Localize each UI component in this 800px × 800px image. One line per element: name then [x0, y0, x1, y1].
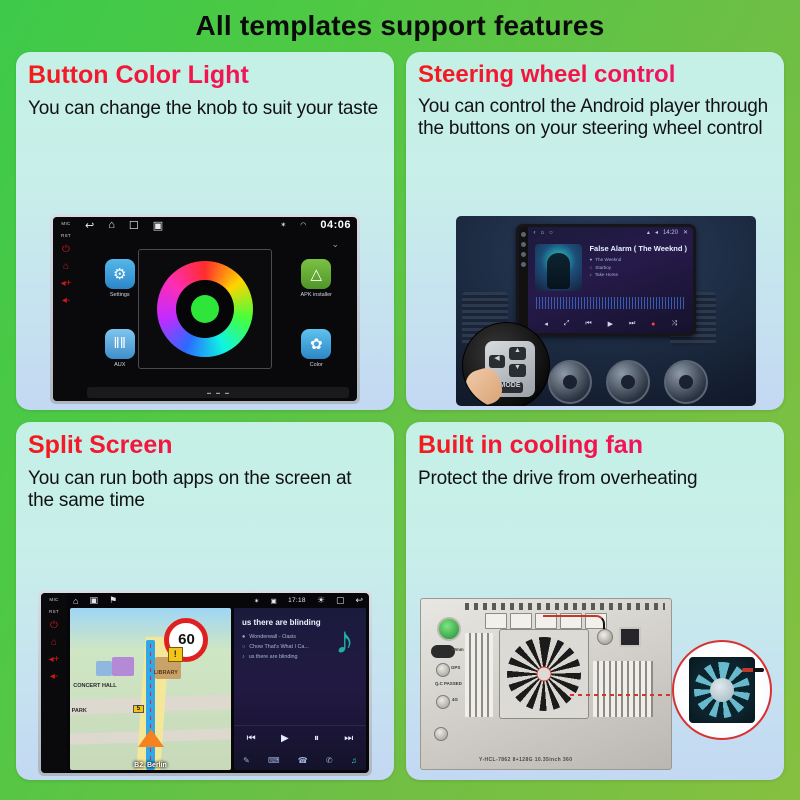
- card-description: You can control the Android player throu…: [418, 96, 772, 140]
- card-description: Protect the drive from overheating: [418, 468, 772, 490]
- clock: 14:20: [663, 230, 678, 236]
- app-shortcut-bar: ✎ ⌨ ☎ ✆ ♫: [234, 750, 366, 770]
- meta-text: Wonderwall - Oasis: [249, 634, 296, 640]
- app-label: Settings: [110, 292, 130, 298]
- mic-label: MIC: [49, 597, 58, 602]
- album-icon: ○: [242, 644, 245, 650]
- recents-icon[interactable]: ○: [549, 230, 553, 236]
- feature-card-grid: Button Color Light You can change the kn…: [16, 52, 784, 788]
- usb-port: [619, 627, 641, 647]
- source-name: Take Home: [595, 272, 618, 277]
- callout-connector-line: [570, 694, 676, 696]
- port-label: 30mm: [451, 647, 464, 652]
- reset-label: RST: [49, 609, 59, 614]
- waveform-progress[interactable]: [536, 297, 685, 309]
- feature-card-steering-wheel-control: Steering wheel control You can control t…: [406, 52, 784, 410]
- wifi-icon: ◠: [300, 221, 306, 229]
- now-playing: False Alarm ( The Weeknd ) ●The Weeknd ○…: [528, 238, 693, 291]
- phone-icon[interactable]: ✆: [326, 756, 333, 765]
- app-color[interactable]: ✿ Color: [284, 313, 350, 383]
- recents-icon[interactable]: ☐: [129, 219, 139, 232]
- player-controls: ◂ ⤢ ⏮ ▶ ⏭ ● ⤨: [528, 317, 693, 331]
- aux-port: [434, 727, 448, 741]
- connector: [485, 613, 507, 629]
- heatsink-fins-right: [593, 661, 653, 717]
- map-building: [112, 657, 135, 676]
- gps-port: [436, 695, 450, 709]
- back-icon[interactable]: ↩: [85, 219, 94, 232]
- next-button[interactable]: ⏭: [344, 733, 353, 744]
- card-title: Split Screen: [28, 432, 382, 460]
- split-screen-display: MIC RST ⏻ ⌂ ◂+ ◂- ⌂ ▣ ⚑ ✶ ▣ 17:18: [41, 593, 369, 773]
- port-label: GPS: [451, 665, 460, 670]
- settings-icon: ⚙: [105, 259, 135, 289]
- climate-control-knobs: [548, 360, 708, 404]
- map-building: [96, 661, 112, 676]
- reset-label: RST: [61, 233, 71, 238]
- close-icon[interactable]: ✕: [683, 229, 688, 236]
- rail-button[interactable]: [521, 262, 526, 267]
- back-icon[interactable]: ↩: [355, 595, 363, 606]
- sd-card-icon: ▣: [271, 597, 277, 605]
- brightness-icon[interactable]: ☀: [317, 595, 325, 606]
- fan-power-wire: [543, 615, 605, 629]
- steering-wheel-closeup: ▲ ▼ ◀ MODE: [462, 322, 550, 406]
- source-icon: ♪: [589, 272, 591, 277]
- expand-button[interactable]: ⤢: [564, 320, 570, 328]
- rail-button[interactable]: [521, 242, 526, 247]
- cooling-fan-photo: [689, 657, 755, 723]
- previous-button[interactable]: ⏮: [585, 320, 591, 328]
- track-info: False Alarm ( The Weeknd ) ●The Weeknd ○…: [589, 244, 687, 291]
- volume-down-icon[interactable]: ◂-: [62, 296, 70, 306]
- map-poi-label: LIBRARY: [154, 670, 178, 676]
- bluetooth-icon: ✶: [280, 221, 286, 229]
- status-bar: ↩ ⌂ ☐ ▣ ✶ ◠ 04:06: [79, 217, 357, 233]
- card-title: Steering wheel control: [418, 62, 772, 88]
- shuffle-button[interactable]: ⤨: [671, 320, 677, 328]
- app-label: AUX: [114, 362, 125, 368]
- power-icon[interactable]: ⏻: [62, 245, 70, 255]
- android-icon: △: [301, 259, 331, 289]
- dot: ▬: [225, 390, 229, 395]
- pause-button[interactable]: ⏸: [314, 733, 319, 744]
- edit-icon[interactable]: ✎: [243, 756, 250, 765]
- page-title: All templates support features: [0, 4, 800, 48]
- track-title: False Alarm ( The Weeknd ): [589, 244, 687, 253]
- fan-hub-marker: [537, 667, 552, 682]
- head-unit-device: MIC RST ⏻ ⌂ ◂+ ◂- ↩ ⌂ ☐ ▣ ✶ ◠: [50, 214, 360, 404]
- head-unit-rear-panel: 30mm GPS Q.C PASSED 4G Y-HCL-7862 8+128G…: [420, 598, 672, 770]
- keyboard-icon[interactable]: ⌨: [268, 756, 280, 765]
- album-row: ○Starboy: [589, 265, 687, 270]
- feature-card-button-color-light: Button Color Light You can change the kn…: [16, 52, 394, 410]
- dashboard-head-unit: ‹ ⌂ ○ ▴ ◂ 14:20 ✕ False Alar: [516, 224, 696, 336]
- aux-icon: ‖‖: [105, 329, 135, 359]
- fan-grille: [499, 629, 589, 719]
- home-icon[interactable]: ⌂: [73, 596, 78, 606]
- home-icon[interactable]: ⌂: [51, 638, 57, 648]
- music-player-pane[interactable]: ♪ us there are blinding ●Wonderwall - Oa…: [234, 608, 366, 770]
- color-wheel[interactable]: [157, 261, 253, 357]
- play-button[interactable]: ▶: [281, 733, 289, 744]
- port-label: 4G: [452, 697, 458, 702]
- play-button[interactable]: ▶: [608, 320, 613, 328]
- head-unit-screen: MIC RST ⏻ ⌂ ◂+ ◂- ↩ ⌂ ☐ ▣ ✶ ◠: [53, 217, 357, 401]
- next-button[interactable]: ⏭: [629, 320, 635, 328]
- artist-icon: ●: [242, 634, 245, 640]
- fan-wire-lead: [742, 668, 764, 672]
- screen-side-rail: [519, 227, 528, 333]
- dashboard-screen: ‹ ⌂ ○ ▴ ◂ 14:20 ✕ False Alar: [519, 227, 693, 333]
- rail-button[interactable]: [521, 232, 526, 237]
- qc-passed-label: Q.C PASSED: [435, 681, 462, 686]
- dot: ▬: [207, 390, 211, 395]
- album-art: [535, 244, 582, 291]
- artist-row: ●The Weeknd: [589, 257, 687, 262]
- swc-up-button[interactable]: ▲: [509, 347, 526, 360]
- signal-icon: ▴: [647, 229, 650, 236]
- card-description: You can run both apps on the screen at t…: [28, 468, 382, 512]
- map-position-arrow: [138, 729, 164, 747]
- color-wheel-inner: [176, 280, 234, 338]
- head-unit-side-rail: MIC RST ⏻ ⌂ ◂+ ◂-: [41, 593, 67, 773]
- page-indicator: ▬ ▬ ▬: [87, 387, 349, 398]
- heatsink-fins-left: [465, 633, 493, 717]
- record-button[interactable]: ●: [651, 321, 655, 328]
- climate-knob[interactable]: [664, 360, 708, 404]
- track-meta: ●The Weeknd ○Starboy ♪Take Home: [589, 257, 687, 277]
- color-picker-dialog[interactable]: [138, 249, 272, 369]
- map-poi-label: PARK: [72, 708, 87, 714]
- volume-up-icon[interactable]: ◂+: [49, 655, 60, 665]
- meta-text: Chow That's What I Ca...: [249, 644, 309, 650]
- card-title: Built in cooling fan: [418, 432, 772, 460]
- color-icon: ✿: [301, 329, 331, 359]
- feature-card-split-screen: Split Screen You can run both apps on th…: [16, 422, 394, 780]
- screenshot-icon[interactable]: ▣: [153, 219, 163, 232]
- status-bar: ⌂ ▣ ⚑ ✶ ▣ 17:18 ☀ ▢ ↩: [67, 593, 369, 608]
- apps-icon[interactable]: ▣: [89, 595, 98, 606]
- street-name-label: B2. Berlin: [70, 762, 231, 769]
- split-panes: 60 ! 5 CONCERT HALL LIBRARY PARK B2. Ber…: [67, 608, 369, 773]
- source-icon: ♪: [242, 654, 245, 660]
- app-label: Color: [310, 362, 323, 368]
- status-bar: ‹ ⌂ ○ ▴ ◂ 14:20 ✕: [528, 227, 693, 238]
- cooling-fan-callout: [672, 640, 772, 740]
- card-description: You can change the knob to suit your tas…: [28, 98, 382, 120]
- warning-icon: !: [168, 647, 183, 662]
- home-icon[interactable]: ⌂: [108, 219, 115, 231]
- power-icon[interactable]: ⏻: [50, 621, 58, 631]
- screen-body: ‹ ⌂ ○ ▴ ◂ 14:20 ✕ False Alar: [528, 227, 693, 333]
- antenna-port: [436, 663, 450, 677]
- playback-controls: ⏮ ▶ ⏸ ⏭: [234, 725, 366, 750]
- vent-slots-top: [465, 603, 665, 610]
- clock: 04:06: [320, 219, 351, 231]
- pin-icon[interactable]: ⚑: [109, 595, 117, 606]
- split-screen-device: MIC RST ⏻ ⌂ ◂+ ◂- ⌂ ▣ ⚑ ✶ ▣ 17:18: [38, 590, 372, 776]
- music-note-icon: ♪: [335, 620, 354, 663]
- mic-label: MIC: [61, 221, 70, 226]
- artist-icon: ●: [589, 257, 592, 262]
- back-icon[interactable]: ‹: [533, 230, 535, 236]
- split-main: ⌂ ▣ ⚑ ✶ ▣ 17:18 ☀ ▢ ↩: [67, 593, 369, 773]
- source-row: ♪Take Home: [589, 272, 687, 277]
- green-connector-port: [437, 617, 461, 641]
- home-icon[interactable]: ⌂: [63, 262, 69, 272]
- car-dashboard-photo: ‹ ⌂ ○ ▴ ◂ 14:20 ✕ False Alar: [456, 216, 756, 406]
- swc-left-button[interactable]: ◀: [489, 355, 505, 368]
- climate-knob[interactable]: [606, 360, 650, 404]
- volume-button[interactable]: ◂: [544, 320, 548, 328]
- album-icon: ○: [589, 265, 592, 270]
- dot: ▬: [216, 390, 220, 395]
- previous-button[interactable]: ⏮: [247, 733, 256, 744]
- navigation-map-pane[interactable]: 60 ! 5 CONCERT HALL LIBRARY PARK B2. Ber…: [70, 608, 231, 770]
- climate-knob[interactable]: [548, 360, 592, 404]
- model-code-label: Y-HCL-7862 8+128G 10.35inch 360: [479, 757, 572, 763]
- artist-name: The Weeknd: [595, 257, 621, 262]
- map-poi-label: CONCERT HALL: [73, 683, 116, 689]
- route-shield: 5: [133, 705, 144, 713]
- feature-card-cooling-fan: Built in cooling fan Protect the drive f…: [406, 422, 784, 780]
- volume-up-icon[interactable]: ◂+: [61, 279, 72, 289]
- volume-down-icon[interactable]: ◂-: [50, 672, 58, 682]
- music-icon[interactable]: ♫: [351, 756, 357, 765]
- recents-icon[interactable]: ▢: [336, 595, 345, 606]
- reset-switch[interactable]: [597, 629, 613, 645]
- app-apk-installer[interactable]: △ APK installer: [284, 243, 350, 313]
- clock: 17:18: [288, 597, 306, 604]
- connector: [510, 613, 532, 629]
- fan-center-hub: [710, 678, 734, 702]
- bluetooth-icon: ✶: [254, 597, 260, 605]
- swc-down-button[interactable]: ▼: [509, 364, 526, 377]
- selected-color-swatch[interactable]: [191, 295, 219, 323]
- home-icon[interactable]: ⌂: [540, 230, 544, 236]
- contacts-icon[interactable]: ☎: [298, 756, 308, 765]
- app-label: APK installer: [301, 292, 333, 298]
- album-name: Starboy: [595, 265, 611, 270]
- meta-text: us there are blinding: [249, 654, 298, 660]
- card-title: Button Color Light: [28, 62, 382, 90]
- volume-icon: ◂: [655, 229, 658, 236]
- head-unit-side-rail: MIC RST ⏻ ⌂ ◂+ ◂-: [53, 217, 79, 401]
- rail-button[interactable]: [521, 252, 526, 257]
